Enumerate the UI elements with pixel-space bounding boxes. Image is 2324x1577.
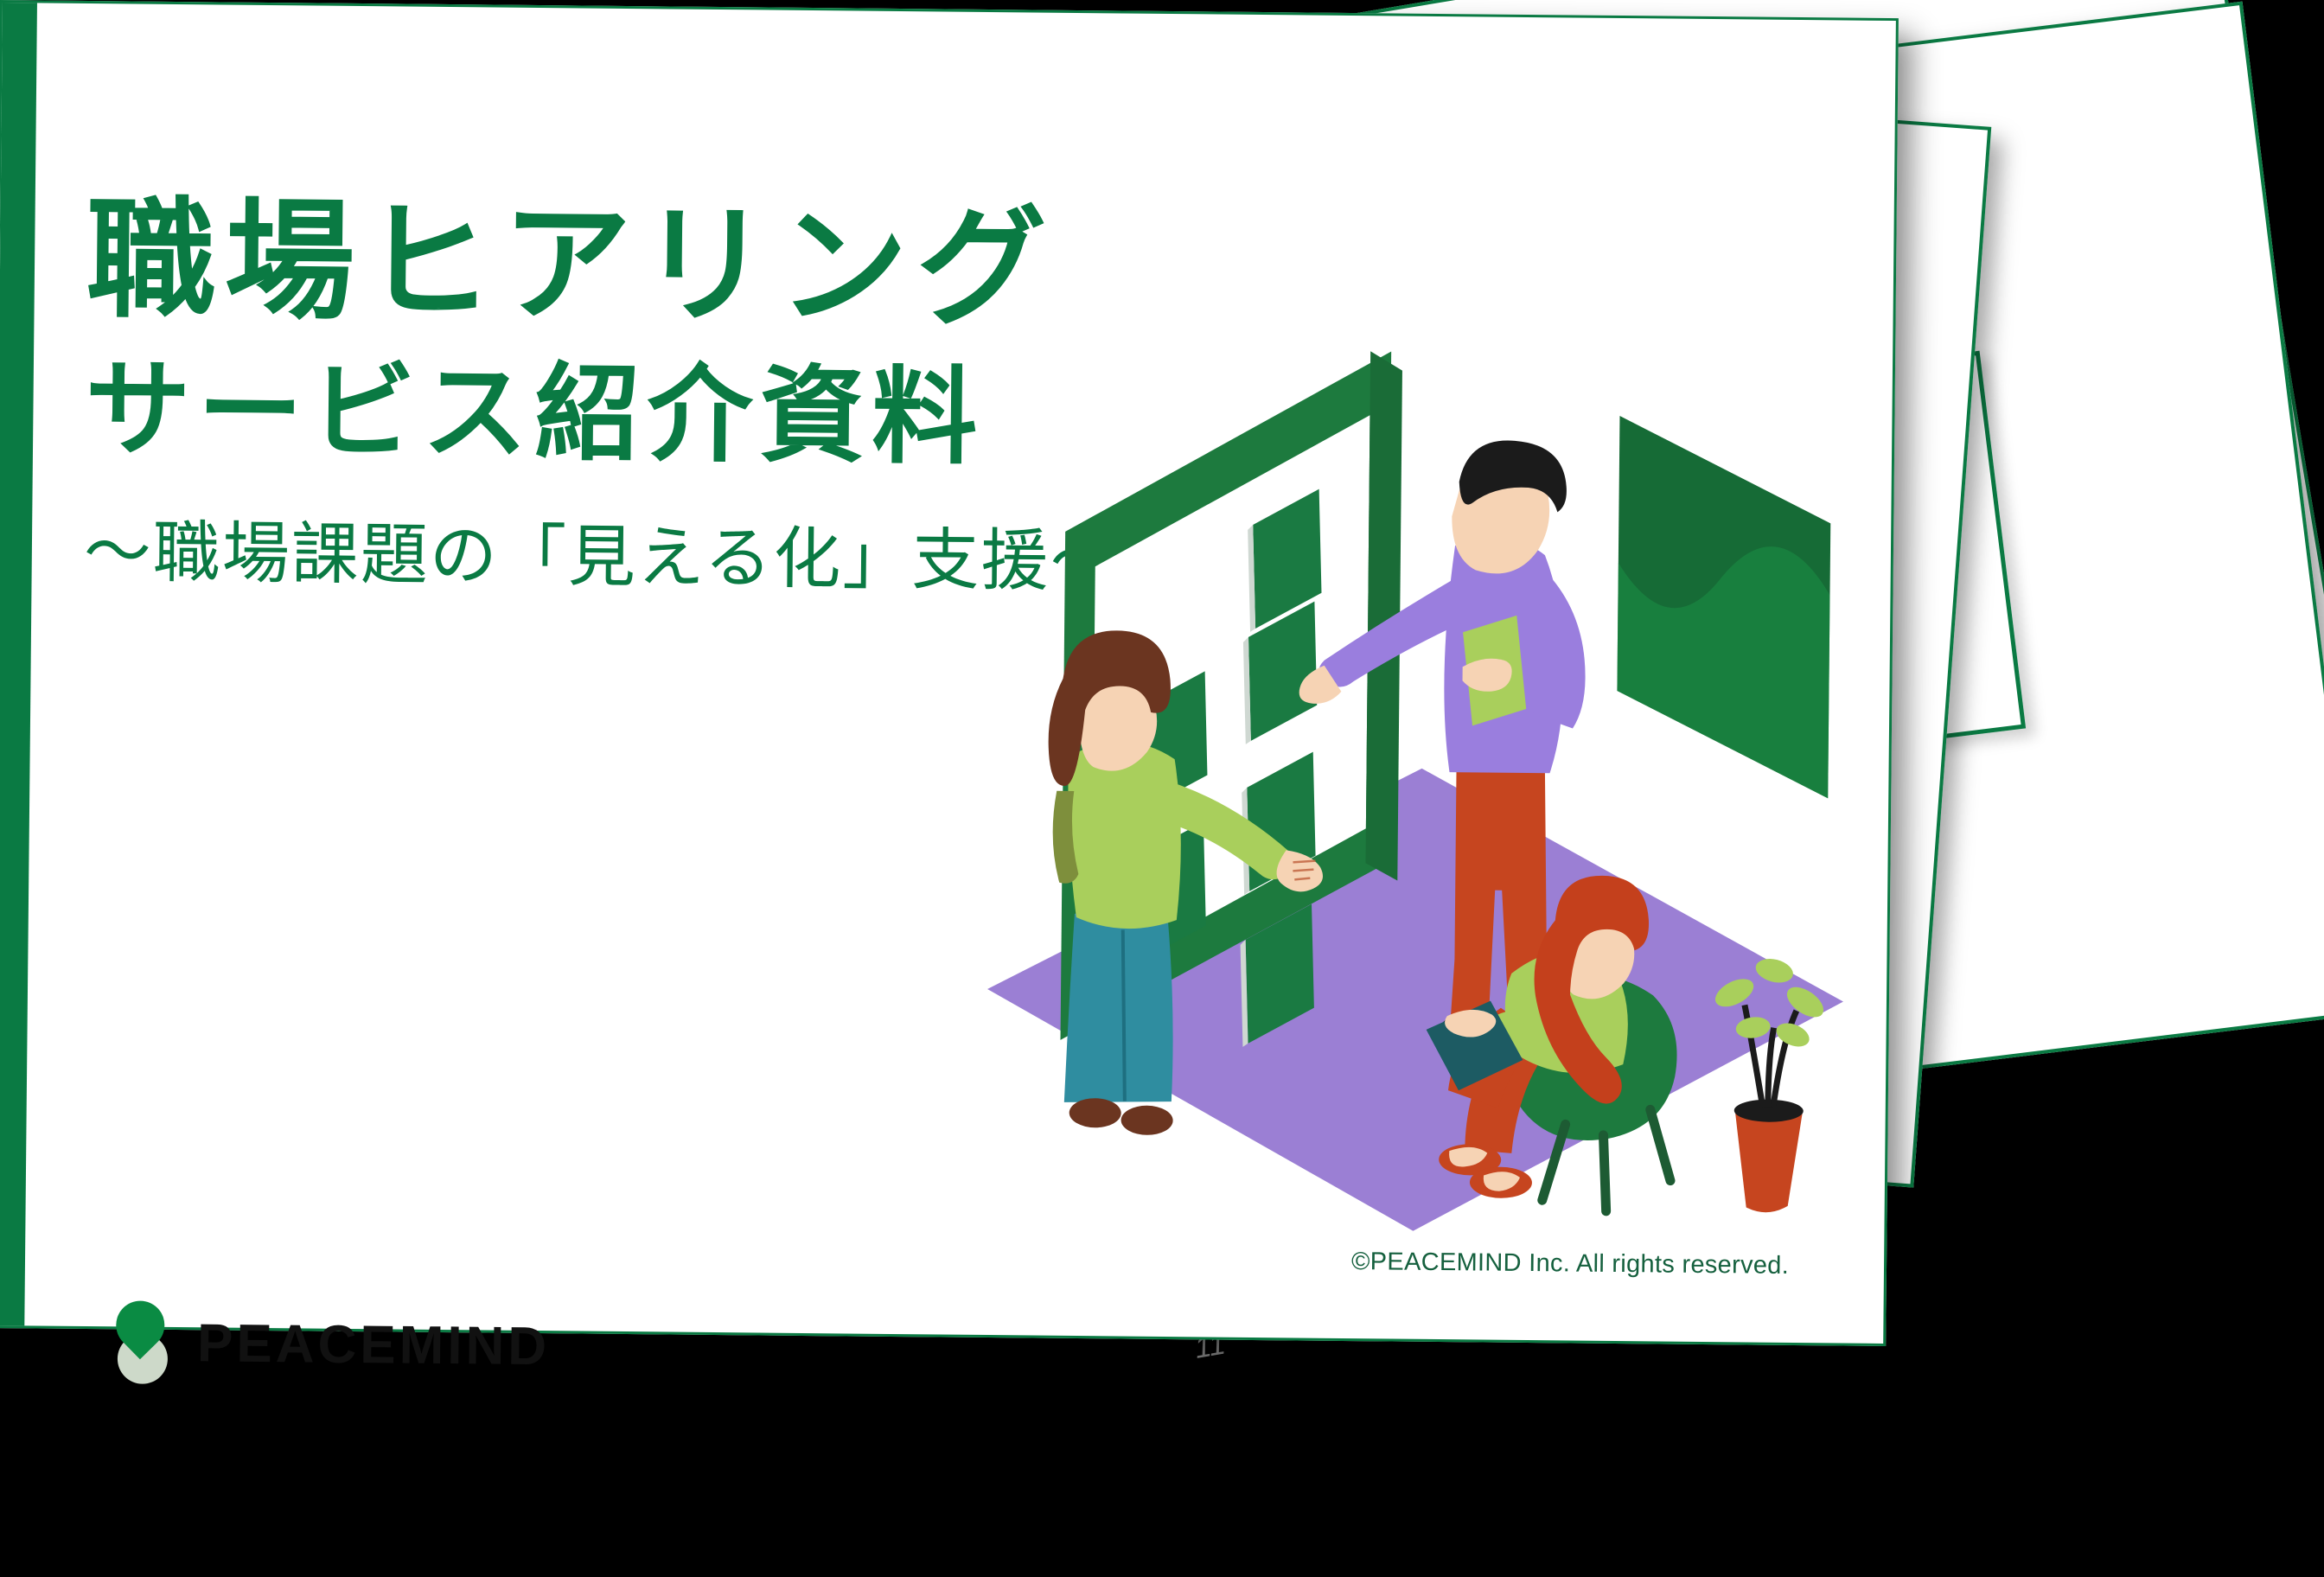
location-pin-icon — [111, 1300, 176, 1384]
page-title-line1: 職場ヒアリング — [86, 189, 1122, 339]
slide-stack: 11 ク で 、 03 02 職場ヒアリング サービス紹介資料 〜職場課題の「見… — [0, 0, 2324, 1577]
logo-wordmark: PEACEMIND — [197, 1312, 551, 1377]
page-title-line2: サービス紹介資料 — [85, 345, 1121, 483]
front-cover-slide[interactable]: 職場ヒアリング サービス紹介資料 〜職場課題の「見える化」支援〜 — [0, 0, 1899, 1346]
copyright-text: ©PEACEMIND Inc. All rights reserved. — [1351, 1248, 1789, 1280]
peacemind-logo: PEACEMIND — [111, 1300, 551, 1388]
title-block: 職場ヒアリング サービス紹介資料 〜職場課題の「見える化」支援〜 — [83, 189, 1122, 606]
isometric-workshop-illustration — [967, 271, 1859, 1257]
page-subtitle: 〜職場課題の「見える化」支援〜 — [83, 508, 1120, 606]
accent-bar — [0, 3, 37, 1325]
